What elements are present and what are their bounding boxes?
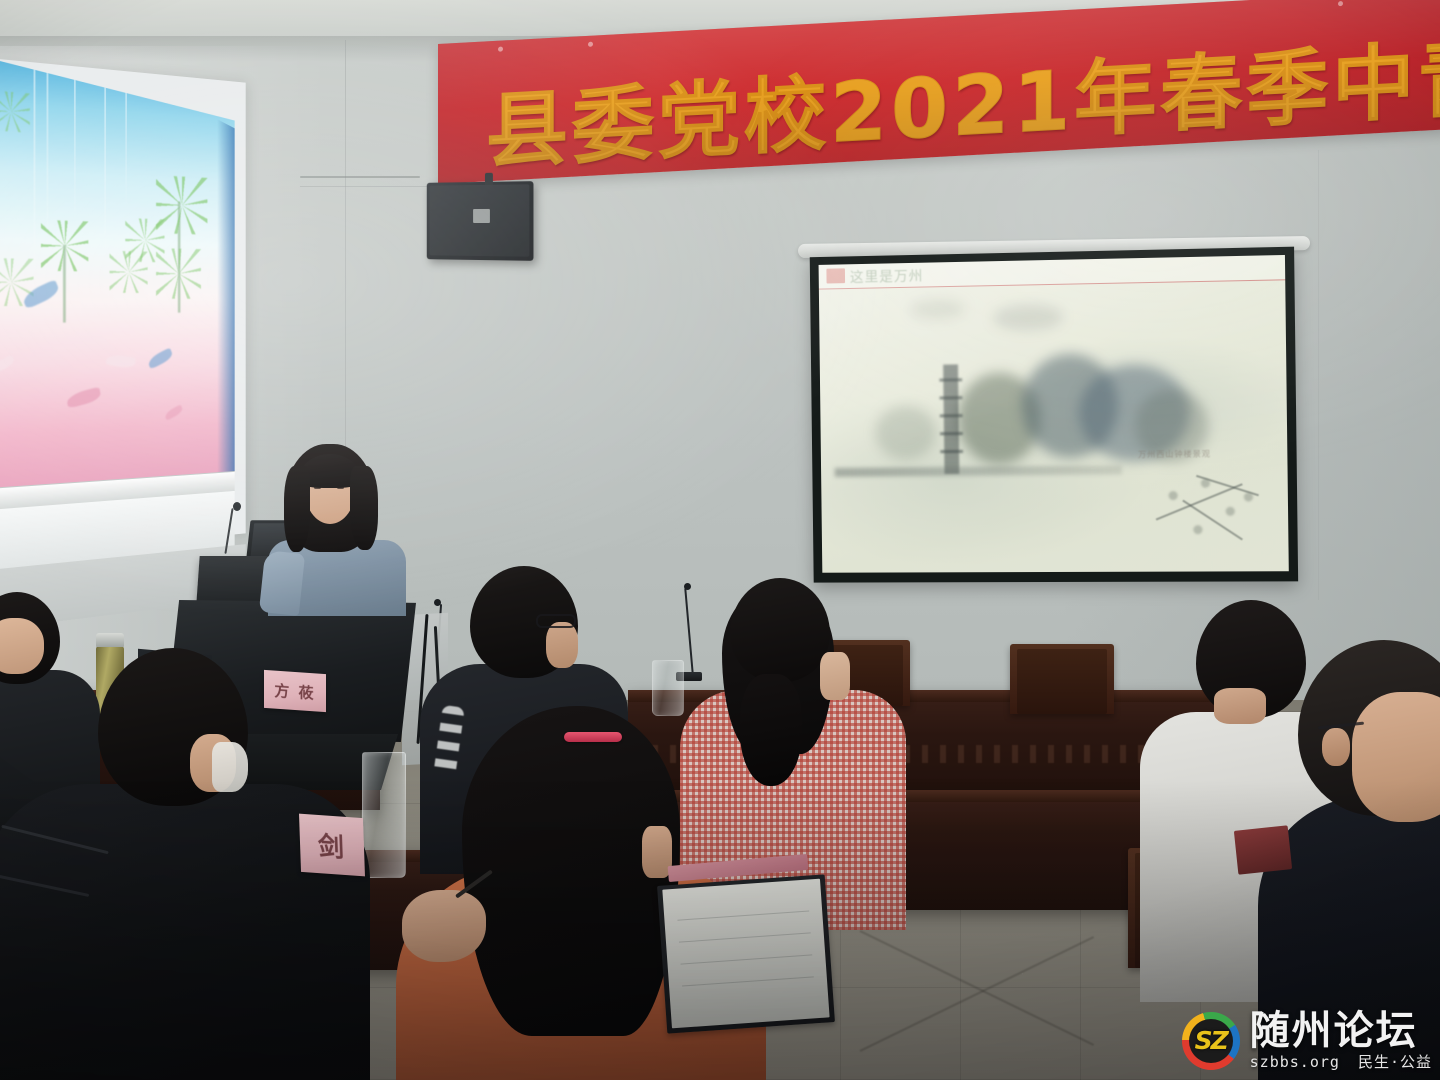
- watermark-logo-icon: SZ: [1182, 1012, 1240, 1070]
- banner-pin: [498, 46, 503, 51]
- palm-tree-icon: [110, 251, 148, 293]
- dolphin-graphic: [0, 355, 16, 375]
- banner-pin: [1338, 1, 1343, 6]
- attendee-hand: [402, 890, 486, 962]
- presenter: [262, 444, 412, 604]
- attendee-face-mask: [212, 742, 248, 792]
- wall-seam-corner: [1318, 150, 1319, 600]
- pagoda-tier: [940, 450, 963, 453]
- notebook-rule: [680, 954, 812, 964]
- slide-title-marker: [826, 268, 845, 283]
- notebook-rule: [679, 932, 811, 942]
- watermark-domain: szbbs.org: [1250, 1053, 1340, 1071]
- projector-screen[interactable]: 这里是万州 万州西山钟楼景观: [810, 247, 1298, 583]
- presenter-hair-left: [284, 466, 310, 552]
- blossom: [1243, 492, 1252, 501]
- blind-streak: [74, 66, 76, 224]
- slide-title-text: 这里是万州: [850, 266, 924, 287]
- blind-streak: [34, 62, 36, 282]
- lectern-microphone-head: [233, 502, 241, 511]
- name-card-text: 剑: [317, 825, 346, 864]
- flask-cap: [96, 633, 124, 647]
- attendee-head: [730, 578, 830, 682]
- attendee-neck-skin: [820, 652, 850, 700]
- wall-speaker: [427, 181, 534, 261]
- blossom: [1225, 506, 1234, 515]
- photo-scene: 县委党校2021年春季中青年干部: [0, 0, 1440, 1080]
- projected-slide: 这里是万州 万州西山钟楼景观: [819, 255, 1289, 573]
- printed-roller-blind[interactable]: [0, 58, 235, 488]
- chair-back-panel: [1017, 649, 1107, 714]
- window: [0, 58, 246, 558]
- blind-edge: [217, 80, 235, 472]
- dolphin-graphic: [147, 347, 174, 369]
- notebook-page: [662, 879, 829, 1029]
- palm-tree-icon: [41, 220, 88, 272]
- watermark-subtitle: szbbs.org 民生·公益: [1250, 1055, 1432, 1070]
- dolphin-graphic: [66, 387, 102, 409]
- presenter-hair-right: [350, 466, 378, 550]
- palm-tree-icon: [156, 248, 201, 299]
- blind-streak: [104, 69, 106, 258]
- plum-blossom-branch: [1145, 447, 1279, 559]
- pagoda-tower: [943, 364, 959, 474]
- watermark-text-block: 随州论坛 szbbs.org 民生·公益: [1250, 1011, 1432, 1070]
- attendee-ear-skin: [546, 622, 578, 668]
- wall-conduit: [300, 176, 420, 178]
- notebook-rule: [677, 910, 809, 920]
- attendee-glasses: [536, 614, 576, 628]
- pagoda-tier: [939, 378, 962, 381]
- attendee-face-skin: [1352, 692, 1440, 822]
- palm-tree-icon: [0, 90, 30, 133]
- pagoda-tier: [940, 414, 963, 417]
- blossom: [1168, 491, 1177, 500]
- chair[interactable]: [1010, 644, 1114, 714]
- dolphin-graphic: [105, 354, 136, 369]
- blind-streak: [125, 71, 127, 210]
- watermark-site-name: 随州论坛: [1250, 1011, 1432, 1051]
- watermark-tagline: 民生·公益: [1358, 1053, 1432, 1071]
- attendee-hair-clip: [564, 732, 622, 742]
- watermark-logo-text: SZ: [1195, 1026, 1227, 1055]
- attendee-ear: [1322, 728, 1350, 766]
- presenter-arm: [259, 550, 305, 616]
- speaker-logo: [473, 208, 490, 222]
- watermark: SZ 随州论坛 szbbs.org 民生·公益: [1182, 1011, 1432, 1070]
- banner-pin: [588, 42, 593, 47]
- ink-foliage: [875, 405, 937, 459]
- dolphin-graphic: [164, 404, 184, 421]
- notebook-rule: [682, 977, 814, 987]
- name-card: 剑: [299, 814, 365, 877]
- wall-seam-horizontal: [300, 186, 440, 187]
- branch-stroke: [1182, 499, 1243, 540]
- open-notebook[interactable]: [657, 874, 835, 1033]
- pagoda-tier: [940, 396, 963, 399]
- pagoda-tier: [940, 432, 963, 435]
- blossom: [1193, 525, 1202, 534]
- speaker-bracket: [485, 173, 493, 185]
- blossom: [1201, 478, 1210, 487]
- red-book: [1234, 825, 1292, 874]
